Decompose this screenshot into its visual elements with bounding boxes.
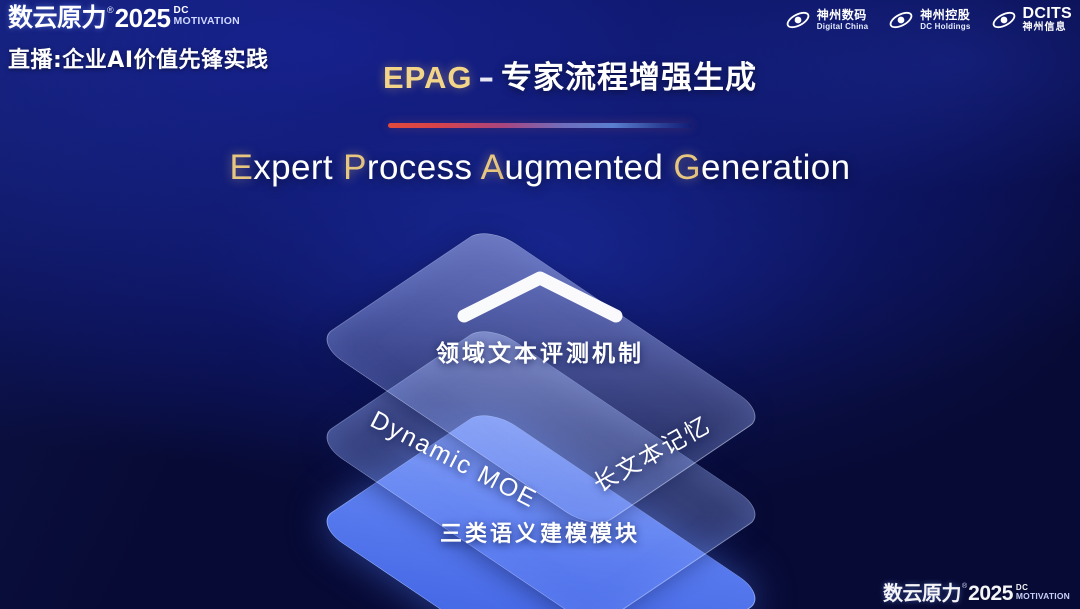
partner-name-en: DCITS [1023, 6, 1073, 22]
subtitle-word-expert: xpert [253, 148, 333, 187]
subtitle-word-generation: eneration [701, 148, 851, 187]
presentation-slide: 数云原力 ® 2025 DC MOTIVATION 直播:企业AI价值先锋实践 … [0, 0, 1080, 609]
title-dash: – [479, 60, 496, 96]
title-divider [388, 123, 692, 128]
registered-trademark-icon: ® [107, 4, 114, 16]
brand-year: 2025 [115, 4, 171, 32]
partner-name-cn: 神州控股 [920, 9, 970, 21]
partner-name-en: Digital China [817, 23, 869, 31]
swirl-icon [888, 7, 914, 33]
partner-name-cn: 神州数码 [817, 9, 869, 21]
layered-architecture-diagram: 领域文本评测机制 Dynamic MOE 长文本记忆 三类语义建模模块 [0, 226, 1080, 566]
subtitle-word-augmented: ugmented [504, 148, 663, 187]
partner-logo-dcits: DCITS 神州信息 [991, 6, 1073, 33]
subtitle-word-process: rocess [367, 148, 473, 187]
slide-subtitle: Expert Process Augmented Generation [0, 148, 1080, 188]
partner-name-en: DC Holdings [920, 23, 970, 31]
partner-logo-dc-holdings: 神州控股 DC Holdings [888, 7, 970, 33]
swirl-icon [785, 7, 811, 33]
partner-logo-digital-china: 神州数码 Digital China [785, 7, 869, 33]
partner-text: 神州控股 DC Holdings [920, 9, 970, 31]
brand-year: 2025 [968, 582, 1013, 605]
partner-name-cn: 神州信息 [1023, 23, 1073, 33]
brand-name-cn: 数云原力 [8, 4, 106, 32]
diagram-labels: 领域文本评测机制 Dynamic MOE 长文本记忆 三类语义建模模块 [0, 226, 1080, 566]
layer-label-dynamic-moe: Dynamic MOE [365, 406, 541, 515]
brand-motivation-label: MOTIVATION [1016, 592, 1070, 601]
subtitle-initial-g: G [673, 148, 701, 187]
subtitle-initial-p: P [343, 148, 367, 187]
layer-label-top: 领域文本评测机制 [0, 334, 1080, 368]
brand-motivation-label: MOTIVATION [174, 16, 240, 27]
partner-logo-bar: 神州数码 Digital China 神州控股 DC Holdings DCIT… [785, 6, 1072, 33]
brand-logo-bottom-right: 数云原力 ® 2025 DC MOTIVATION [883, 582, 1070, 605]
subtitle-initial-e: E [229, 148, 253, 187]
title-acronym: EPAG [383, 60, 473, 95]
partner-text: 神州数码 Digital China [817, 9, 869, 31]
brand-name-cn: 数云原力 [883, 582, 961, 605]
brand-dc-motivation: DC MOTIVATION [174, 4, 240, 27]
live-session-title: 直播:企业AI价值先锋实践 [8, 42, 269, 74]
partner-text: DCITS 神州信息 [1023, 6, 1073, 33]
brand-logo-top-left: 数云原力 ® 2025 DC MOTIVATION 直播:企业AI价值先锋实践 [8, 4, 269, 74]
layer-label-bottom: 三类语义建模模块 [0, 516, 1080, 548]
swirl-icon [991, 7, 1017, 33]
brand-logo-row: 数云原力 ® 2025 DC MOTIVATION [8, 4, 269, 34]
subtitle-initial-a: A [481, 148, 505, 187]
brand-dc-motivation: DC MOTIVATION [1016, 582, 1070, 601]
registered-trademark-icon: ® [962, 582, 967, 591]
title-text-cn: 专家流程增强生成 [501, 60, 757, 96]
layer-label-long-text-memory: 长文本记忆 [586, 405, 717, 499]
